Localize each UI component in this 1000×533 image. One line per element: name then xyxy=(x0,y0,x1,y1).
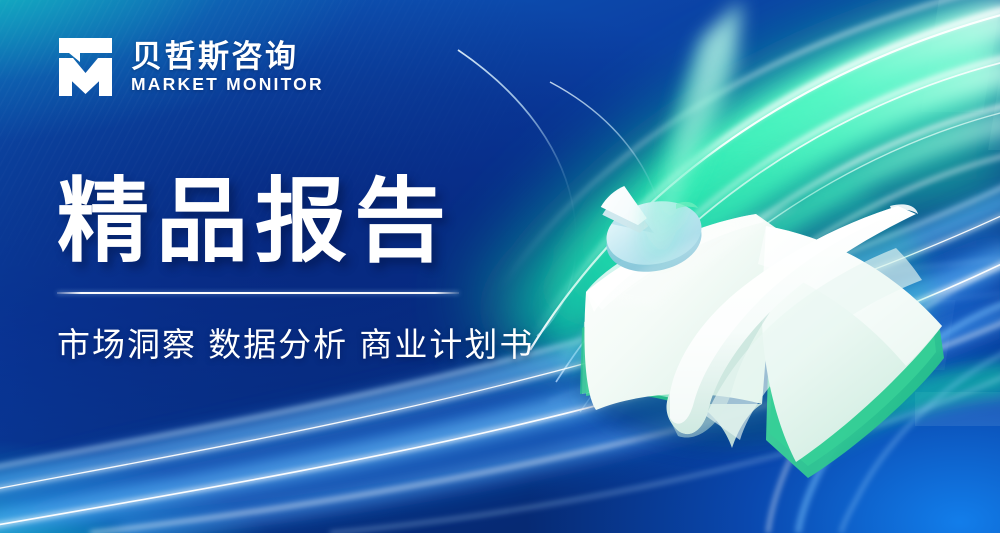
market-monitor-m-mark-icon xyxy=(57,36,114,98)
brand-logo[interactable]: 贝哲斯咨询 MARKET MONITOR xyxy=(57,36,324,98)
page-title: 精品报告 xyxy=(57,176,527,270)
promo-banner: 贝哲斯咨询 MARKET MONITOR 精品报告 市场洞察 数据分析 商业计划… xyxy=(0,0,1000,533)
brand-name-cn: 贝哲斯咨询 xyxy=(131,41,324,72)
headline-divider xyxy=(57,292,459,294)
brand-logo-text: 贝哲斯咨询 MARKET MONITOR xyxy=(131,41,324,94)
brand-name-en: MARKET MONITOR xyxy=(131,76,324,94)
headline-block: 精品报告 市场洞察 数据分析 商业计划书 xyxy=(57,176,527,366)
page-subtitle: 市场洞察 数据分析 商业计划书 xyxy=(57,318,527,366)
pie-chart-icon xyxy=(601,193,707,272)
